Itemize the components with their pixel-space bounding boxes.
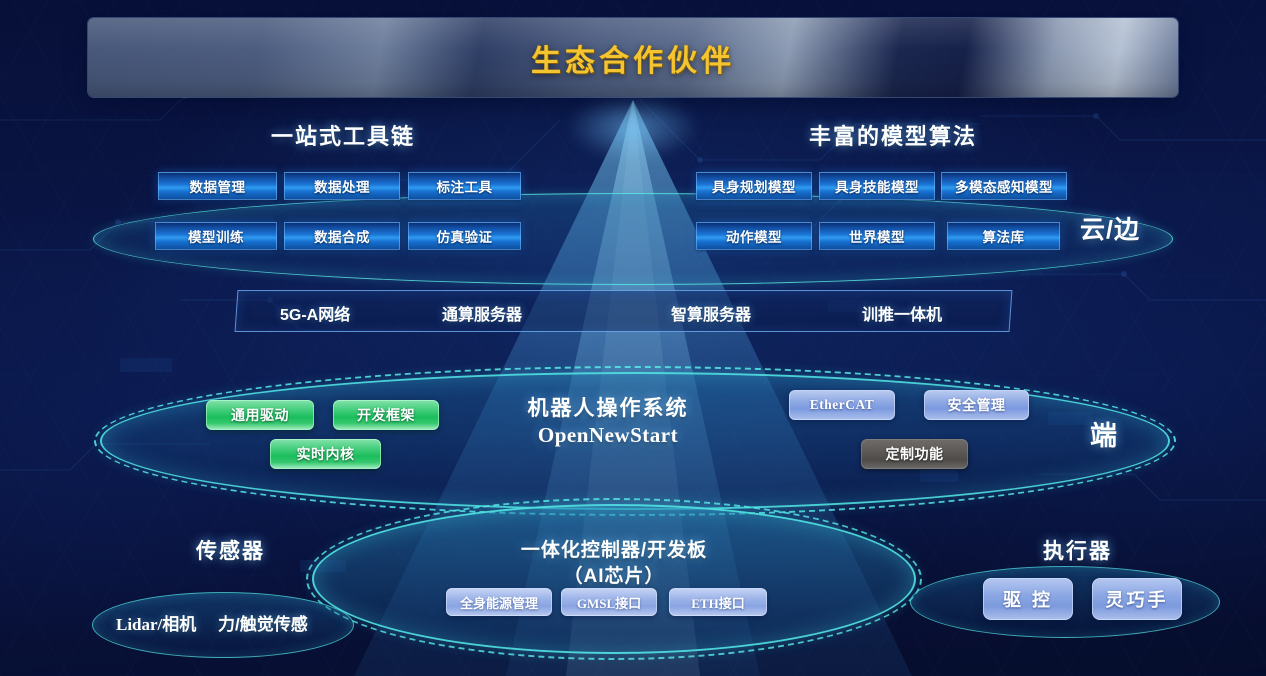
models-title: 丰富的模型算法 (809, 119, 977, 151)
infra-item-1[interactable]: 通算服务器 (442, 301, 522, 325)
actuators-item-0[interactable]: 驱 控 (983, 578, 1073, 620)
os-green-module-1[interactable]: 开发框架 (333, 400, 439, 430)
os-blue-module-1[interactable]: 安全管理 (924, 390, 1029, 420)
controller-item-0[interactable]: 全身能源管理 (446, 588, 552, 616)
ecosystem-partner-banner: 生态合作伙伴 (88, 18, 1178, 97)
infra-item-0[interactable]: 5G-A网络 (280, 301, 350, 325)
models-item-5[interactable]: 算法库 (947, 222, 1060, 250)
models-item-1[interactable]: 具身技能模型 (819, 172, 935, 200)
toolchain-title: 一站式工具链 (271, 119, 415, 151)
toolchain-item-2[interactable]: 标注工具 (408, 172, 521, 200)
os-center-title: 机器人操作系统 OpenNewStart (508, 392, 708, 448)
models-item-2[interactable]: 多模态感知模型 (941, 172, 1067, 200)
beam-origin-glow (566, 92, 700, 162)
models-item-4[interactable]: 世界模型 (819, 222, 935, 250)
controller-item-2[interactable]: ETH接口 (669, 588, 767, 616)
sensors-item-0[interactable]: Lidar/相机 (116, 610, 196, 635)
toolchain-item-3[interactable]: 模型训练 (155, 222, 277, 250)
infra-item-2[interactable]: 智算服务器 (671, 301, 751, 325)
toolchain-item-1[interactable]: 数据处理 (284, 172, 400, 200)
banner-title: 生态合作伙伴 (531, 36, 735, 80)
os-gray-module-0[interactable]: 定制功能 (861, 439, 968, 469)
toolchain-item-5[interactable]: 仿真验证 (408, 222, 521, 250)
os-title-cn: 机器人操作系统 (508, 392, 708, 422)
architecture-diagram: 生态合作伙伴 云/边 一站式工具链 数据管理 数据处理 标注工具 模型训练 数据… (0, 0, 1266, 676)
toolchain-item-0[interactable]: 数据管理 (158, 172, 277, 200)
infra-item-3[interactable]: 训推一体机 (862, 301, 942, 325)
actuators-title: 执行器 (1043, 535, 1112, 565)
toolchain-item-4[interactable]: 数据合成 (284, 222, 400, 250)
controller-item-1[interactable]: GMSL接口 (561, 588, 657, 616)
sensors-item-1[interactable]: 力/触觉传感 (218, 610, 308, 635)
models-item-0[interactable]: 具身规划模型 (696, 172, 812, 200)
os-green-module-0[interactable]: 通用驱动 (206, 400, 314, 430)
controller-title: 一体化控制器/开发板 （AI芯片） (462, 538, 766, 590)
actuators-item-1[interactable]: 灵巧手 (1092, 578, 1182, 620)
cloud-edge-label: 云/边 (1080, 210, 1140, 246)
sensors-title: 传感器 (196, 535, 265, 565)
os-green-module-2[interactable]: 实时内核 (270, 439, 381, 469)
device-layer-label: 端 (1090, 414, 1118, 453)
models-item-3[interactable]: 动作模型 (696, 222, 812, 250)
os-blue-module-0[interactable]: EtherCAT (789, 390, 895, 420)
controller-title-line2: （AI芯片） (563, 566, 664, 587)
controller-title-line1: 一体化控制器/开发板 (521, 540, 707, 561)
os-title-en: OpenNewStart (508, 423, 708, 448)
